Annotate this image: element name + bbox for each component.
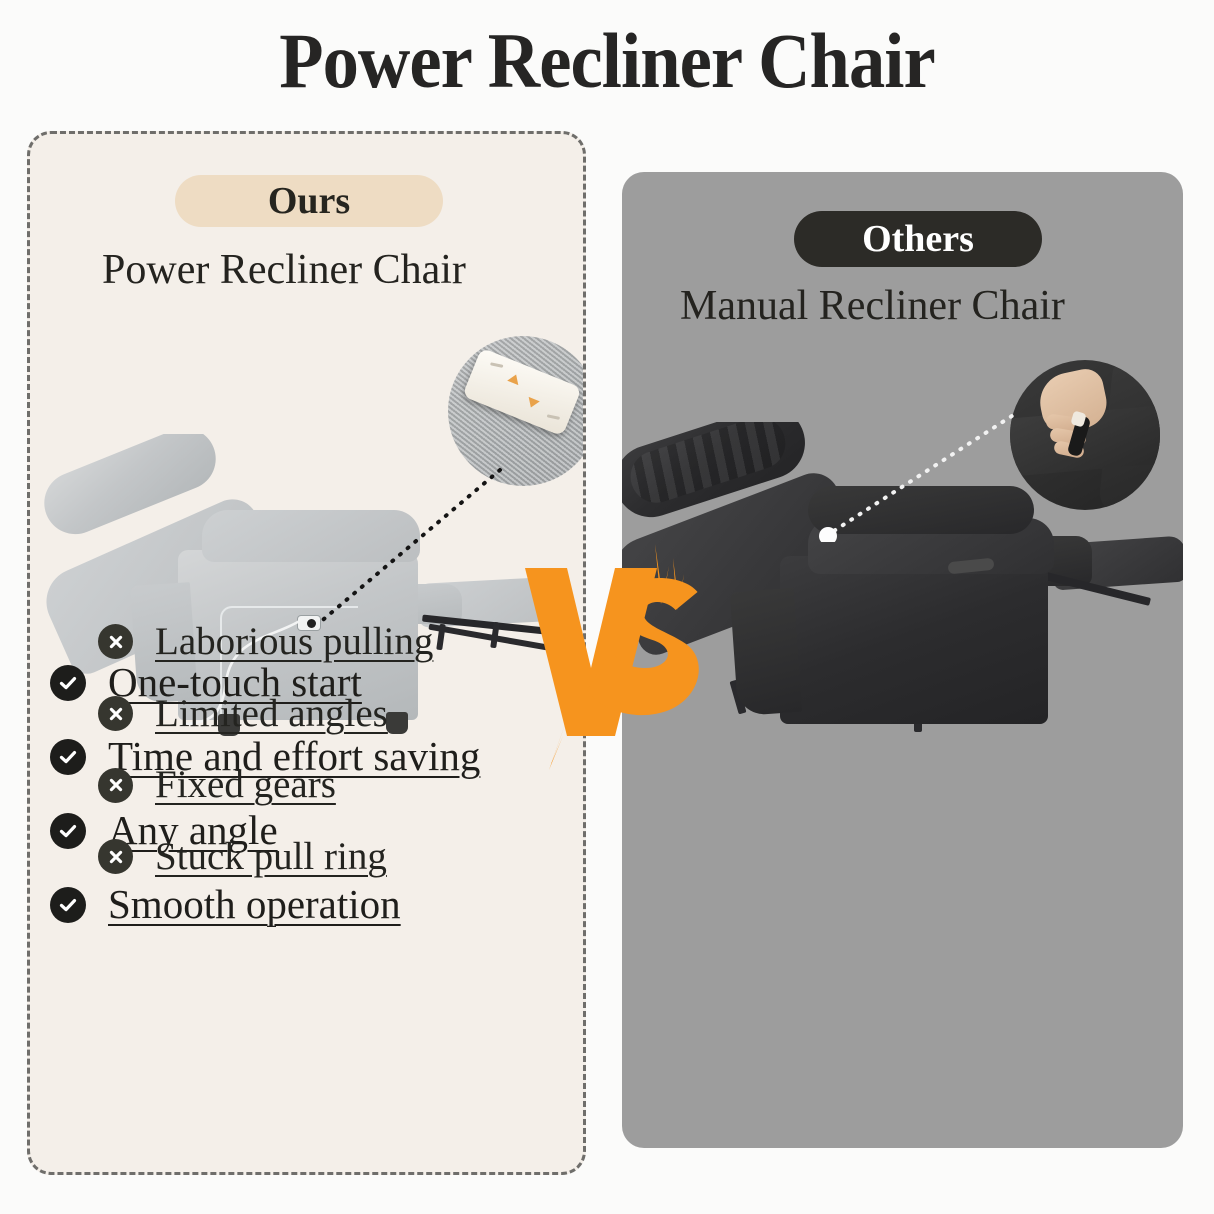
- list-item: Fixed gears: [98, 763, 558, 807]
- ours-armrest: [202, 510, 420, 562]
- x-circle-icon: [98, 696, 133, 731]
- others-subtitle: Manual Recliner Chair: [680, 282, 1065, 330]
- remote-down-button-icon: [525, 397, 539, 410]
- vs-graphic: [505, 540, 720, 770]
- list-item: Limited angles: [98, 692, 558, 736]
- x-circle-icon: [98, 839, 133, 874]
- vs-icon: [505, 540, 720, 770]
- others-armrest: [808, 486, 1034, 534]
- ours-subtitle: Power Recliner Chair: [102, 246, 466, 294]
- remote-control: [462, 348, 582, 437]
- list-item: Stuck pull ring: [98, 835, 558, 879]
- check-circle-icon: [50, 665, 86, 701]
- remote-icon-down-flat: [547, 414, 560, 420]
- feature-label: Laborious pulling: [155, 620, 433, 664]
- list-item: Laborious pulling: [98, 620, 558, 664]
- check-circle-icon: [50, 887, 86, 923]
- remote-up-button-icon: [507, 372, 521, 385]
- feature-label: Stuck pull ring: [155, 835, 387, 879]
- others-seat-body: [780, 556, 1048, 724]
- others-badge: Others: [794, 211, 1042, 267]
- others-badge-label: Others: [862, 217, 974, 261]
- others-inset-photo: [1010, 360, 1160, 510]
- x-circle-icon: [98, 768, 133, 803]
- check-circle-icon: [50, 813, 86, 849]
- ours-inset-photo: [448, 336, 586, 486]
- check-circle-icon: [50, 739, 86, 775]
- remote-icon-up-flat: [490, 362, 503, 368]
- feature-label: Limited angles: [155, 692, 388, 736]
- x-circle-icon: [98, 624, 133, 659]
- page-title: Power Recliner Chair: [42, 16, 1171, 106]
- ours-badge: Ours: [175, 175, 443, 227]
- feature-label: Fixed gears: [155, 763, 336, 807]
- others-side-wing: [730, 588, 802, 716]
- others-feature-list: Laborious pulling Limited angles Fixed g…: [98, 620, 558, 907]
- ours-badge-label: Ours: [268, 179, 350, 223]
